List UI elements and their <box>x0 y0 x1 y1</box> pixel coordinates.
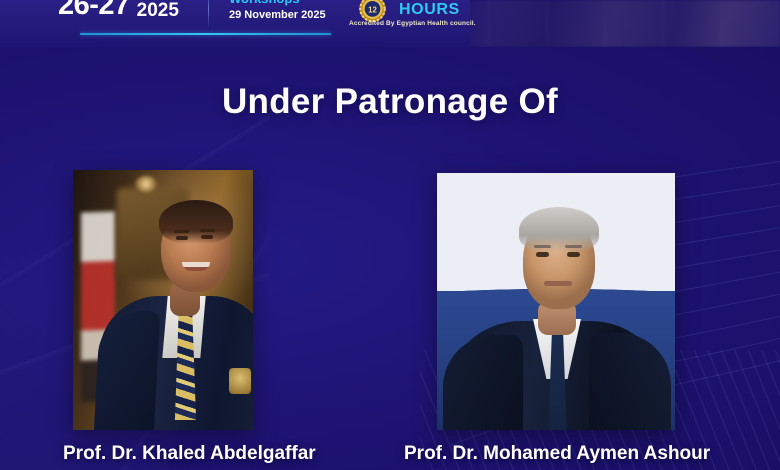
left-portrait-crest-badge <box>229 368 251 394</box>
event-date-range: 26-27 <box>58 0 130 20</box>
left-portrait-hair <box>159 200 233 244</box>
event-poster: 26-27 November 2025 Workshops 29 Novembe… <box>0 0 780 470</box>
event-date-year: 2025 <box>137 1 179 20</box>
horizontal-rule-icon <box>80 33 331 35</box>
header-band: 26-27 November 2025 Workshops 29 Novembe… <box>0 0 780 47</box>
header-blurred-photo <box>430 0 780 47</box>
hours-label: HOURS <box>399 1 460 19</box>
left-portrait-brow <box>200 229 215 232</box>
left-portrait-lamp <box>135 176 157 192</box>
right-portrait-hair <box>519 207 599 253</box>
svg-text:12: 12 <box>368 5 377 14</box>
right-portrait-eye <box>536 252 549 257</box>
person-name-right: Prof. Dr. Mohamed Aymen Ashour <box>404 443 710 465</box>
page-title: Under Patronage Of <box>0 82 780 122</box>
person-name-left: Prof. Dr. Khaled Abdelgaffar <box>63 443 316 465</box>
workshops-date: 29 November 2025 <box>229 9 326 21</box>
left-portrait-brow <box>174 230 189 233</box>
accreditation-note: Accredited By Egyptian Health council. <box>349 20 476 27</box>
workshops-label: Workshops <box>229 0 326 6</box>
portrait-photo-icon-mohamed-aymen-ashour <box>437 173 675 430</box>
right-portrait-brow <box>565 245 582 248</box>
workshops-block: Workshops 29 November 2025 <box>229 0 326 21</box>
right-portrait-brow <box>534 245 551 248</box>
right-portrait-eye <box>567 252 580 257</box>
event-date-block: 26-27 November 2025 <box>58 0 179 20</box>
right-portrait-mouth <box>544 281 572 286</box>
left-portrait-eye <box>201 235 213 239</box>
vertical-divider-icon <box>208 0 209 28</box>
left-portrait-eye <box>176 236 188 240</box>
portrait-photo-icon-khaled-abdelgaffar <box>73 170 253 430</box>
